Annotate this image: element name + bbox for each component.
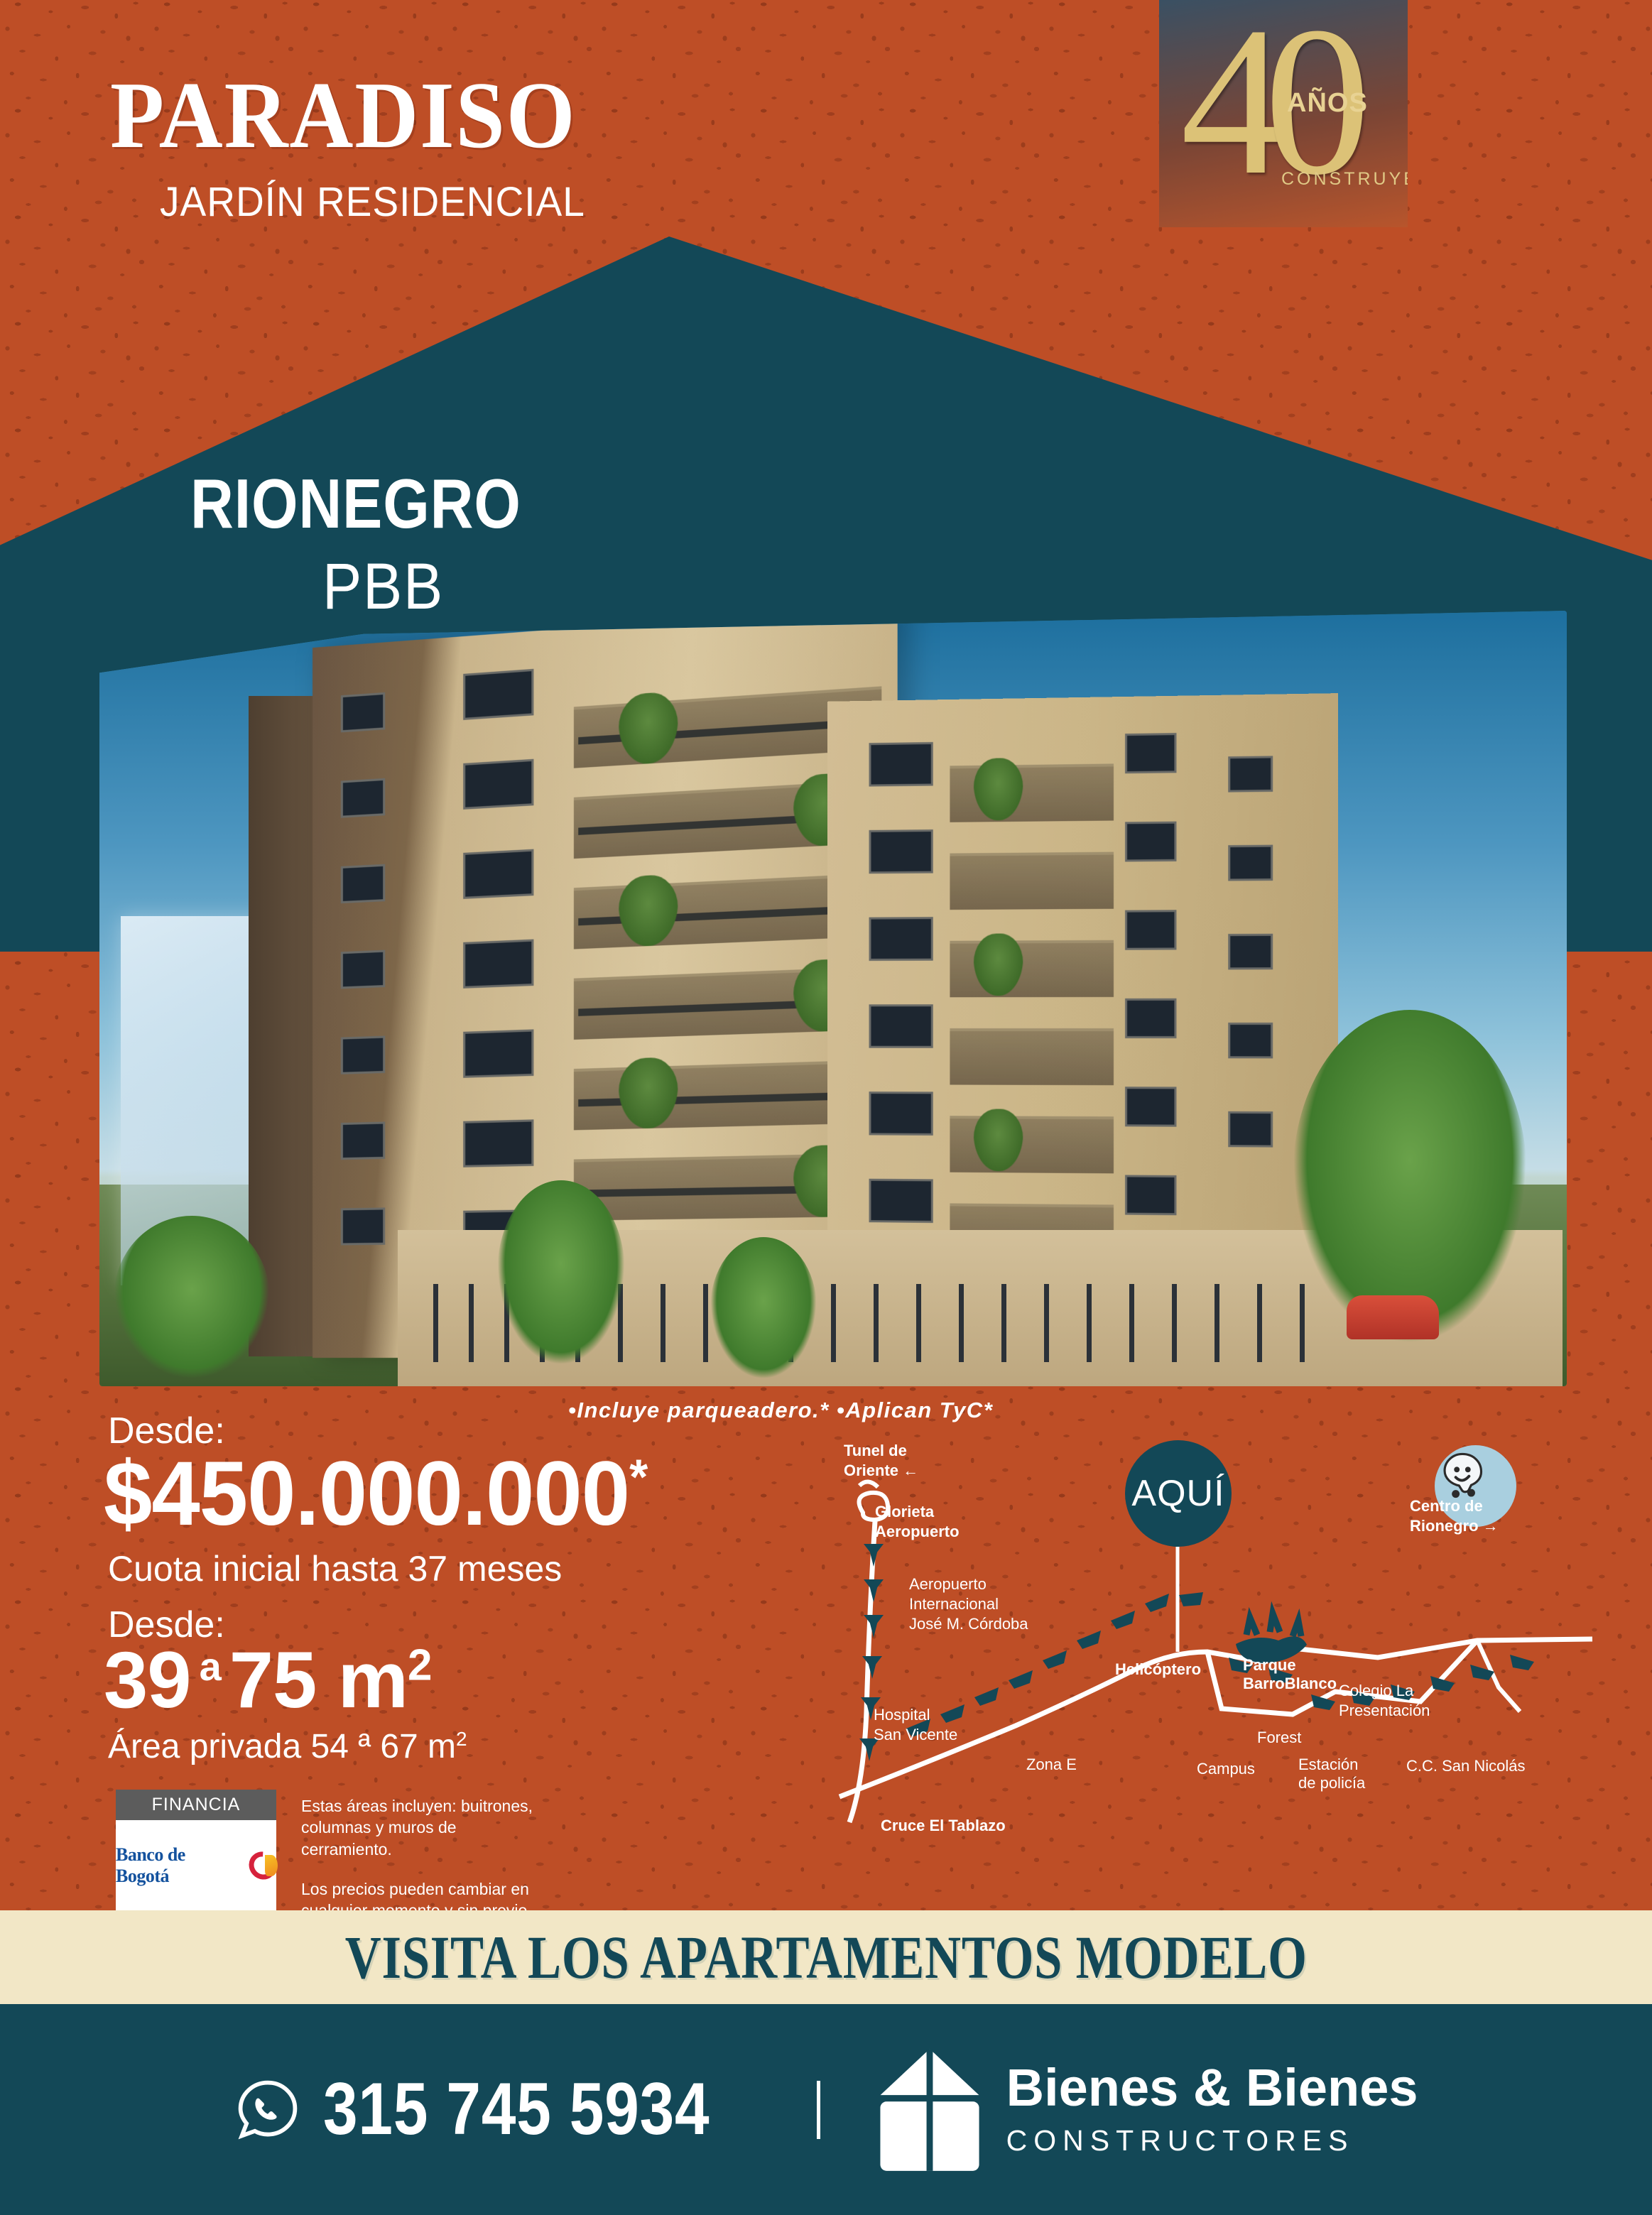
area-to: 75: [229, 1636, 317, 1724]
map-label: C.C. San Nicolás: [1406, 1757, 1526, 1775]
company-logo: Bienes & Bienes CONSTRUCTORES: [877, 2047, 1418, 2173]
map-label: Internacional: [909, 1595, 999, 1613]
map-label: Estación: [1298, 1756, 1358, 1774]
map-label: Cruce El Tablazo: [881, 1817, 1006, 1835]
page-title: PARADISO: [110, 67, 576, 163]
map-label: Aeropuerto: [875, 1523, 960, 1541]
map-label: Centro de: [1410, 1497, 1483, 1515]
financing-box: FINANCIA Banco de Bogotá: [116, 1790, 276, 1911]
whatsapp-icon[interactable]: [234, 2076, 302, 2144]
parking-note: •Incluye parqueadero.* •Aplican TyC*: [568, 1398, 993, 1423]
company-name: Bienes & Bienes: [1006, 2058, 1418, 2117]
brand-header: PARADISO JARDÍN RESIDENCIAL: [110, 67, 612, 226]
price-amount: $450.000.000: [104, 1443, 629, 1545]
location-map: AQUÍ Tunel deOriente ←GlorietaAeropuerto…: [838, 1427, 1598, 1875]
badge-tagline: CONSTRUYENDO: [1281, 169, 1408, 190]
brand-subtitle: JARDÍN RESIDENCIAL: [160, 178, 589, 226]
installments-text: Cuota inicial hasta 37 meses: [108, 1548, 562, 1589]
hero-heading: RIONEGRO PBB: [190, 469, 575, 619]
anniversary-badge: 4 0 AÑOS CONSTRUYENDO: [1159, 0, 1408, 227]
price-value: $450.000.000*: [104, 1449, 647, 1540]
footer-bar: 315 745 5934 Bienes & Bienes CONSTRUCTOR…: [0, 2004, 1652, 2215]
map-label: Aeropuerto: [909, 1575, 987, 1594]
bank-logo: Banco de Bogotá: [116, 1820, 276, 1911]
whatsapp-contact[interactable]: 315 745 5934: [234, 2067, 783, 2152]
badge-years-label: AÑOS: [1287, 88, 1368, 119]
cta-banner-text: VISITA LOS APARTAMENTOS MODELO: [344, 1922, 1307, 1993]
map-label: Forest: [1257, 1729, 1301, 1747]
map-label: Tunel de: [844, 1442, 907, 1460]
map-label: Parque: [1243, 1656, 1296, 1675]
phone-number[interactable]: 315 745 5934: [323, 2067, 710, 2152]
map-label: Presentación: [1339, 1702, 1430, 1720]
financing-header: FINANCIA: [116, 1790, 276, 1820]
map-label: de policía: [1298, 1774, 1365, 1792]
building-render-image: [99, 611, 1567, 1386]
footer-divider: [817, 2081, 820, 2139]
map-label: Hospital: [874, 1706, 930, 1724]
map-label: Rionegro →: [1410, 1517, 1499, 1535]
map-label: Helicóptero: [1115, 1660, 1201, 1679]
private-area-exponent: 2: [456, 1728, 467, 1750]
private-area-text: Área privada 54 ª 67 m2: [108, 1727, 467, 1766]
map-label: José M. Córdoba: [909, 1615, 1028, 1633]
cta-banner: VISITA LOS APARTAMENTOS MODELO: [0, 1910, 1652, 2004]
map-label: Glorieta: [875, 1503, 934, 1521]
house-logo-icon: [877, 2047, 982, 2173]
parked-car: [1347, 1295, 1439, 1339]
disclaimer-line-1: Estas áreas incluyen: buitrones, columna…: [301, 1795, 543, 1860]
area-exponent: 2: [408, 1641, 431, 1690]
map-label: Oriente ←: [844, 1462, 918, 1480]
area-unit: m: [337, 1636, 408, 1724]
bank-mark-icon: [249, 1851, 276, 1880]
area-range: 39a75 m2: [104, 1640, 432, 1720]
private-area-label: Área privada 54 ª 67 m: [108, 1728, 456, 1765]
area-from: 39: [104, 1636, 191, 1724]
map-label: BarroBlanco: [1243, 1675, 1337, 1693]
company-name-block: Bienes & Bienes CONSTRUCTORES: [1006, 2062, 1418, 2157]
bank-name: Banco de Bogotá: [116, 1844, 242, 1887]
company-tagline: CONSTRUCTORES: [1006, 2124, 1418, 2157]
hero-project-code: PBB: [322, 554, 550, 619]
map-here-marker: AQUÍ: [1125, 1440, 1232, 1547]
price-asterisk: *: [629, 1449, 647, 1504]
map-label: Campus: [1197, 1760, 1255, 1778]
map-label: Zona E: [1026, 1756, 1077, 1774]
hero-city-name: RIONEGRO: [190, 469, 521, 538]
map-label: San Vicente: [874, 1726, 957, 1744]
map-label: Colegio La: [1339, 1682, 1413, 1700]
area-separator: a: [200, 1644, 221, 1689]
